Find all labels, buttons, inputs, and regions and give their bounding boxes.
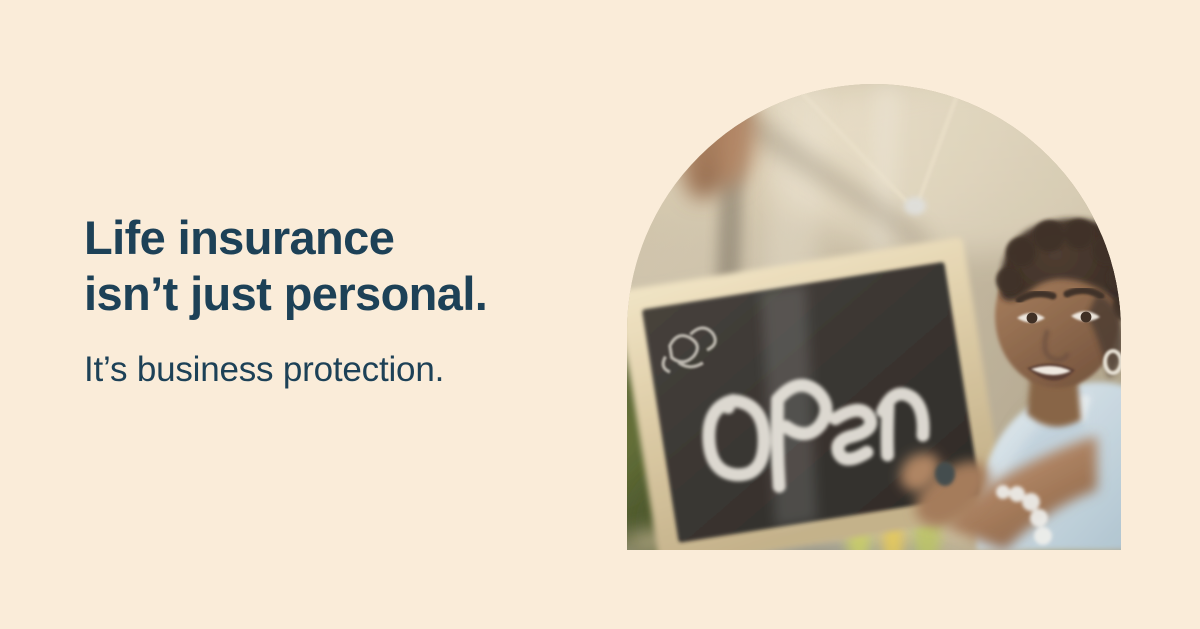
photo-content xyxy=(627,84,1121,550)
arch-photo xyxy=(627,84,1121,550)
arch-photo-svg xyxy=(627,84,1121,550)
subtitle: It’s business protection. xyxy=(84,349,604,391)
copy-block: Life insurance isn’t just personal. It’s… xyxy=(84,210,604,391)
warm-light-wash xyxy=(627,84,1121,550)
marketing-banner: Life insurance isn’t just personal. It’s… xyxy=(0,0,1200,629)
page-title: Life insurance isn’t just personal. xyxy=(84,210,604,322)
